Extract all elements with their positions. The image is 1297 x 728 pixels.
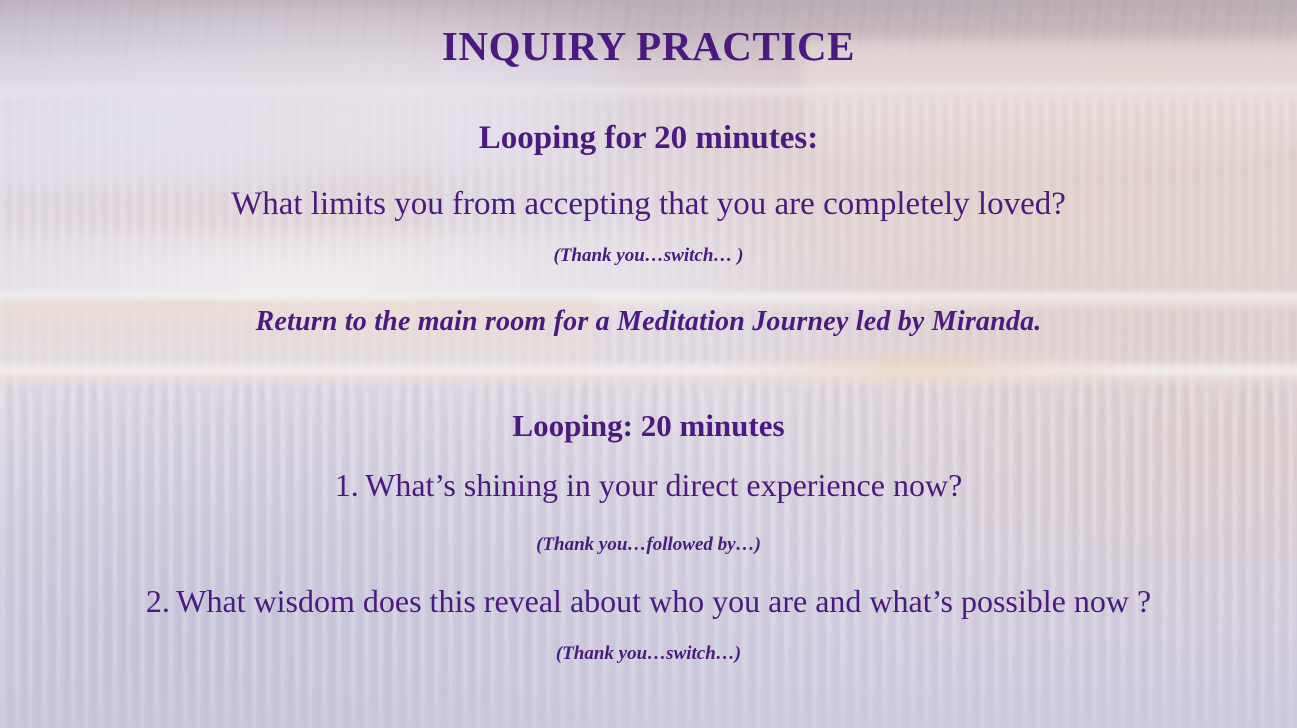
looping-heading-second: Looping: 20 minutes <box>0 408 1297 444</box>
slide-title: INQUIRY PRACTICE <box>0 22 1297 70</box>
return-to-main-room-instruction: Return to the main room for a Meditation… <box>0 306 1297 338</box>
slide-content: INQUIRY PRACTICE Looping for 20 minutes:… <box>0 0 1297 728</box>
switch-note-second: (Thank you…switch…) <box>0 643 1297 665</box>
looping-heading-first: Looping for 20 minutes: <box>0 120 1297 157</box>
followed-by-note: (Thank you…followed by…) <box>0 534 1297 556</box>
inquiry-question-item-2: 2. What wisdom does this reveal about wh… <box>0 583 1297 620</box>
inquiry-question-first: What limits you from accepting that you … <box>0 186 1297 223</box>
inquiry-question-item-1: 1. What’s shining in your direct experie… <box>0 467 1297 504</box>
presentation-slide: INQUIRY PRACTICE Looping for 20 minutes:… <box>0 0 1297 728</box>
switch-note-first: (Thank you…switch… ) <box>0 245 1297 267</box>
